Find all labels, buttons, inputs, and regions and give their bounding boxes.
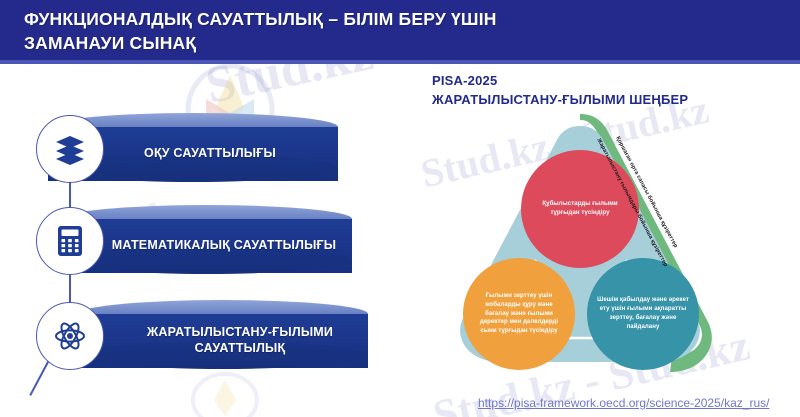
literacy-icon-circle-math[interactable] bbox=[36, 207, 104, 275]
competency-text: Құбылыстарды ғылыми тұрғыдан түсіндіру bbox=[535, 200, 625, 218]
competency-bubble-use[interactable]: Шешім қабылдау және әрекет ету үшін ғылы… bbox=[587, 258, 699, 370]
competency-text: Ғылыми зерттеу үшін жобаларды құру және … bbox=[473, 292, 565, 336]
competency-bubble-evaluate[interactable]: Ғылыми зерттеу үшін жобаларды құру және … bbox=[463, 258, 575, 370]
watermark-logo-icon bbox=[180, 370, 270, 417]
literacy-icon-circle-reading[interactable] bbox=[36, 115, 104, 183]
literacy-label: ЖАРАТЫЛЫСТАНУ-ҒЫЛЫМИ САУАТТЫЛЫҚ bbox=[78, 314, 368, 368]
literacy-icon-circle-science[interactable] bbox=[36, 302, 104, 370]
competency-bubble-explain[interactable]: Құбылыстарды ғылыми тұрғыдан түсіндіру bbox=[521, 150, 639, 268]
slide-title-bar: ФУНКЦИОНАЛДЫҚ САУАТТЫЛЫҚ – БІЛІМ БЕРУ ҮШ… bbox=[0, 0, 800, 60]
title-bar-accent bbox=[0, 60, 800, 64]
framework-heading-line-2: ЖАРАТЫЛЫСТАНУ-ҒЫЛЫМИ ШЕҢБЕР bbox=[432, 91, 688, 110]
framework-heading-line-1: PISA-2025 bbox=[432, 72, 688, 91]
page-title-line-1: ФУНКЦИОНАЛДЫҚ САУАТТЫЛЫҚ – БІЛІМ БЕРУ ҮШ… bbox=[24, 9, 497, 30]
page-title-line-2: ЗАМАНАУИ СЫНАҚ bbox=[24, 33, 196, 54]
competency-text: Шешім қабылдау және әрекет ету үшін ғылы… bbox=[597, 296, 689, 331]
literacy-label: МАТЕМАТИКАЛЫҚ САУАТТЫЛЫҒЫ bbox=[62, 219, 352, 273]
pillar-connector bbox=[29, 360, 49, 396]
books-icon bbox=[53, 132, 87, 166]
literacy-cylinder-science[interactable]: ЖАРАТЫЛЫСТАНУ-ҒЫЛЫМИ САУАТТЫЛЫҚ bbox=[78, 300, 368, 370]
source-url-link[interactable]: https://pisa-framework.oecd.org/science-… bbox=[478, 396, 769, 410]
atom-icon bbox=[53, 319, 87, 353]
literacy-cylinder-math[interactable]: МАТЕМАТИКАЛЫҚ САУАТТЫЛЫҒЫ bbox=[62, 205, 352, 275]
calculator-icon bbox=[55, 224, 85, 258]
slide-canvas: Stud.kz Stud.kz - Stud.kz Stud.kz - Stud… bbox=[0, 0, 800, 417]
framework-heading: PISA-2025 ЖАРАТЫЛЫСТАНУ-ҒЫЛЫМИ ШЕҢБЕР bbox=[432, 72, 688, 110]
pisa-science-framework-diagram: Құбылыстарды ғылыми тұрғыдан түсіндіру Ғ… bbox=[440, 110, 725, 390]
